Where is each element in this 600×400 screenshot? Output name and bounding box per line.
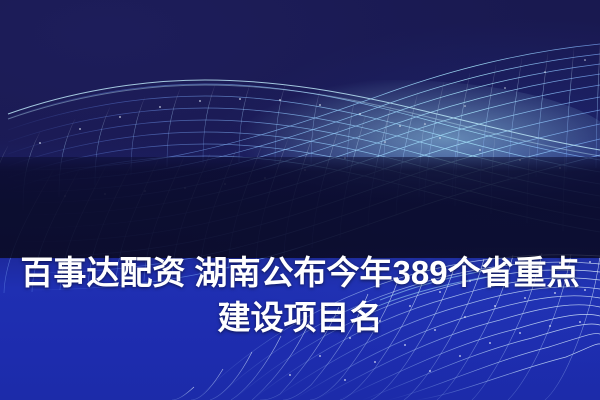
headline-line-1: 百事达配资 湖南公布今年389个省重点建设项目名 (0, 250, 600, 340)
headline: 百事达配资 湖南公布今年389个省重点建设项目名 单 总投资2万亿元 (0, 160, 600, 400)
banner-image: 百事达配资 湖南公布今年389个省重点建设项目名 单 总投资2万亿元 (0, 0, 600, 400)
